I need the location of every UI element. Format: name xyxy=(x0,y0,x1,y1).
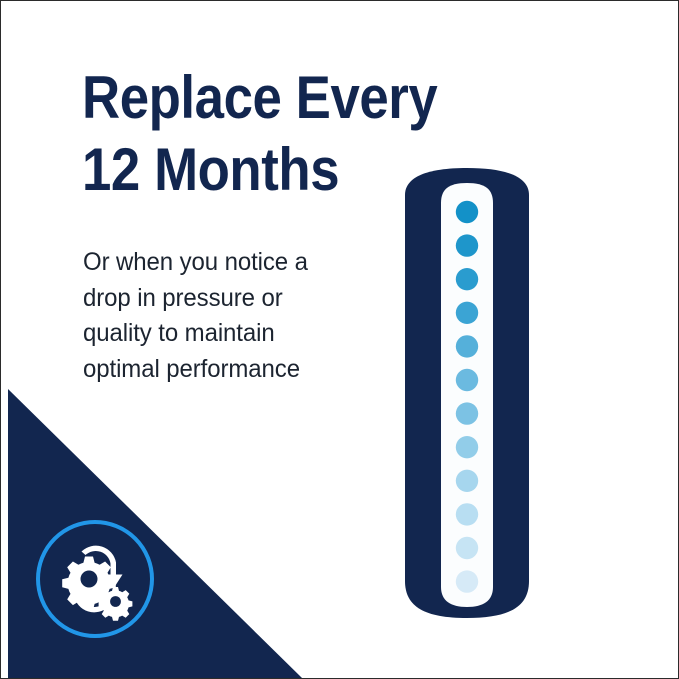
poster-canvas: Replace Every 12 Months Or when you noti… xyxy=(0,0,679,679)
cartridge-dot xyxy=(456,436,478,458)
subcopy-line-2: drop in pressure or xyxy=(83,281,361,317)
maintenance-cycle-badge xyxy=(34,518,156,640)
small-gear-icon xyxy=(99,587,133,621)
cartridge-dot xyxy=(456,570,478,592)
cartridge-dot xyxy=(456,402,478,424)
cartridge-dot xyxy=(456,470,478,492)
cartridge-dot xyxy=(456,234,478,256)
cartridge-dot xyxy=(456,369,478,391)
cartridge-dot xyxy=(456,335,478,357)
filter-cartridge-illustration xyxy=(397,167,537,619)
headline-line-1: Replace Every xyxy=(82,62,434,134)
cartridge-dot xyxy=(456,503,478,525)
cartridge-dot xyxy=(456,268,478,290)
headline-line-2: 12 Months xyxy=(82,134,434,206)
subtitle-text: Or when you notice a drop in pressure or… xyxy=(83,245,361,387)
cartridge-dot xyxy=(456,302,478,324)
gears-refresh-cycle-icon xyxy=(62,546,132,621)
page-title: Replace Every 12 Months xyxy=(82,62,434,206)
subcopy-line-1: Or when you notice a xyxy=(83,245,361,281)
subcopy-line-3: quality to maintain xyxy=(83,316,361,352)
cartridge-dot xyxy=(456,201,478,223)
cartridge-dot xyxy=(456,537,478,559)
subcopy-line-4: optimal performance xyxy=(83,352,361,388)
